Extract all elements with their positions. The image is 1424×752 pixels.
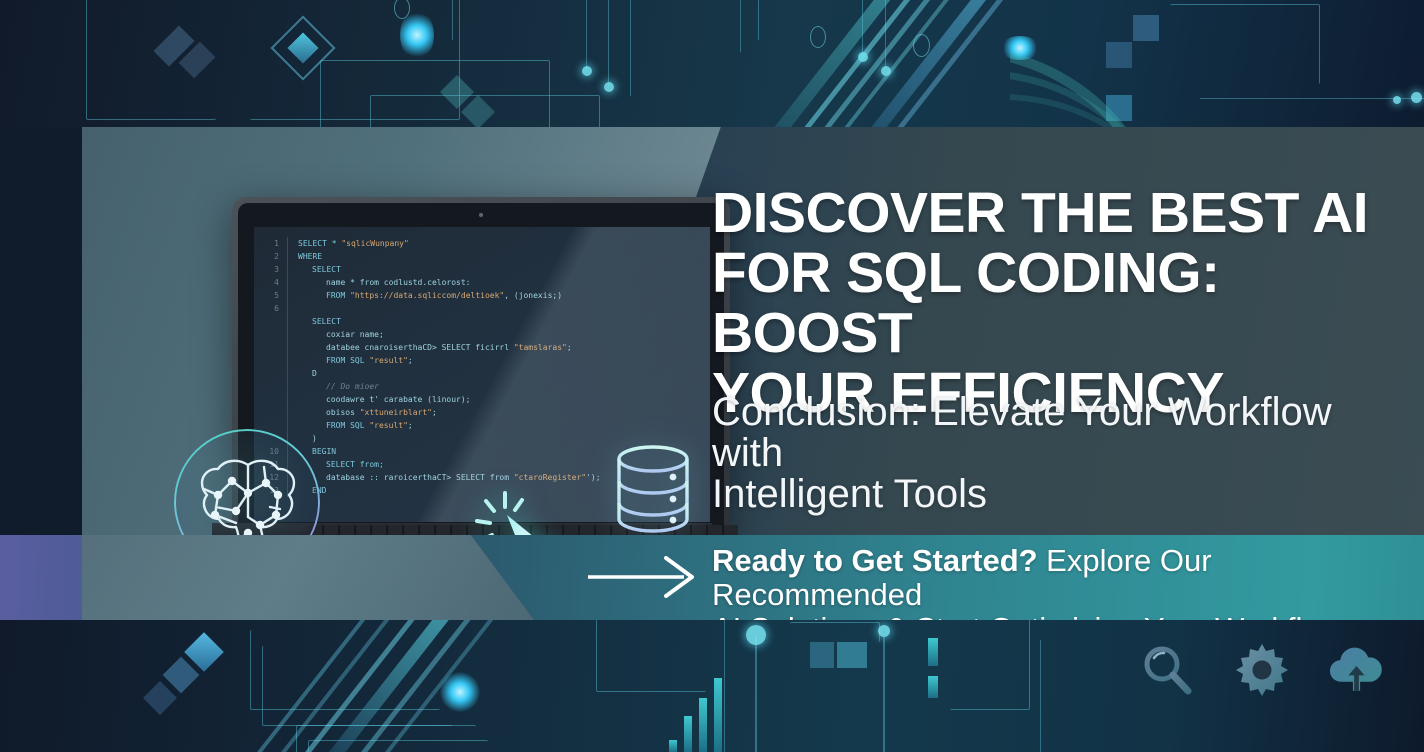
search-icon[interactable]: [1135, 637, 1198, 703]
line-number: 4: [254, 276, 288, 289]
webcam-icon: [479, 213, 483, 217]
code-line: FROM SQL "result";: [254, 354, 710, 367]
circuit-node: [604, 82, 614, 92]
line-number: [254, 354, 288, 367]
code-text: FROM "https://data.sqliccom/deltioek", (…: [288, 289, 562, 302]
decor-diamond: [143, 681, 177, 715]
circuit-ring: [810, 26, 826, 48]
line-number: [254, 380, 288, 393]
line-number: [254, 315, 288, 328]
code-text: WHERE: [288, 250, 322, 263]
circuit-trace: [1040, 640, 1041, 752]
decor-bar: [714, 678, 722, 752]
circuit-trace: [452, 0, 453, 40]
decor-bar: [699, 698, 707, 752]
banner-canvas: 1SELECT * "sqlicWunpany"2WHERE3SELECT4na…: [0, 0, 1424, 752]
page-subtitle: Conclusion: Elevate Your Workflow with I…: [712, 392, 1372, 515]
line-number: [254, 367, 288, 380]
top-circuit-banner: [0, 0, 1424, 127]
glow-dot: [440, 672, 480, 712]
subhead-line-2: Intelligent Tools: [712, 474, 1372, 515]
circuit-trace: [740, 0, 741, 52]
bottom-icon-row: [1135, 634, 1390, 706]
code-text: SELECT * "sqlicWunpany": [288, 237, 409, 250]
code-text: obisos "xttuneirblart";: [288, 406, 437, 419]
code-text: coodawre t' carabate (linour);: [288, 393, 471, 406]
headline-line-2: FOR SQL CODING: BOOST: [712, 243, 1392, 363]
code-text: // Do mioer: [288, 380, 379, 393]
line-number: 6: [254, 302, 288, 315]
circuit-node: [582, 66, 592, 76]
cta-strong: Ready to Get Started?: [712, 543, 1038, 578]
code-text: database :: raroicerthaCT> SELECT from "…: [288, 471, 601, 484]
code-line: obisos "xttuneirblart";: [254, 406, 710, 419]
circuit-trace: [758, 0, 759, 40]
code-text: [288, 302, 298, 315]
decor-bar: [928, 676, 938, 698]
headline-line-1: DISCOVER THE BEST AI: [712, 183, 1392, 243]
circuit-trace: [630, 0, 631, 96]
code-line: coxiar name;: [254, 328, 710, 341]
decor-bar: [928, 638, 938, 666]
code-line: // Do mioer: [254, 380, 710, 393]
decor-bar: [684, 716, 692, 752]
line-number: 2: [254, 250, 288, 263]
gear-icon[interactable]: [1230, 637, 1293, 703]
circuit-trace: [724, 620, 725, 752]
database-icon: [607, 439, 699, 539]
code-text: SELECT: [288, 315, 341, 328]
subhead-line-1: Conclusion: Elevate Your Workflow with: [712, 392, 1372, 474]
code-line: D: [254, 367, 710, 380]
line-number: [254, 406, 288, 419]
circuit-trace: [370, 95, 600, 127]
line-number: 3: [254, 263, 288, 276]
cta-left-panel-overlay: [82, 535, 534, 620]
database-badge: [607, 439, 699, 539]
code-text: databee cnaroiserthaCD> SELECT ficirrl "…: [288, 341, 572, 354]
cta-line-1: Ready to Get Started? Explore Our Recomm…: [712, 544, 1412, 612]
code-text: name * from codlustd.celorost:: [288, 276, 471, 289]
code-line: coodawre t' carabate (linour);: [254, 393, 710, 406]
circuit-trace: [885, 0, 886, 68]
arrow-right-icon: [588, 556, 698, 598]
glow-dot: [400, 10, 434, 60]
line-number: [254, 393, 288, 406]
code-line: 5FROM "https://data.sqliccom/deltioek", …: [254, 289, 710, 302]
decor-square: [810, 642, 834, 668]
circuit-trace: [790, 622, 880, 642]
circuit-trace: [86, 0, 216, 120]
code-text: coxiar name;: [288, 328, 384, 341]
code-text: FROM SQL "result";: [288, 354, 413, 367]
circuit-trace: [883, 630, 885, 752]
line-number: 5: [254, 289, 288, 302]
circuit-trace: [586, 0, 587, 70]
line-number: 1: [254, 237, 288, 250]
decor-arc-group: [1010, 10, 1424, 127]
line-number: [254, 328, 288, 341]
cloud-upload-icon[interactable]: [1325, 637, 1388, 703]
line-number: [254, 341, 288, 354]
code-text: D: [288, 367, 317, 380]
decor-square: [837, 642, 867, 668]
code-line: SELECT: [254, 315, 710, 328]
circuit-trace: [608, 0, 609, 86]
circuit-trace: [950, 620, 1030, 710]
page-title: DISCOVER THE BEST AI FOR SQL CODING: BOO…: [712, 183, 1392, 423]
code-line: 4name * from codlustd.celorost:: [254, 276, 710, 289]
circuit-node: [746, 625, 766, 645]
code-text: SELECT: [288, 263, 341, 276]
code-line: 6: [254, 302, 710, 315]
code-line: databee cnaroiserthaCD> SELECT ficirrl "…: [254, 341, 710, 354]
code-line: 2WHERE: [254, 250, 710, 263]
code-line: 1SELECT * "sqlicWunpany": [254, 237, 710, 250]
circuit-trace: [596, 620, 706, 692]
decor-bar: [669, 740, 677, 752]
code-line: 3SELECT: [254, 263, 710, 276]
circuit-trace: [755, 636, 757, 752]
